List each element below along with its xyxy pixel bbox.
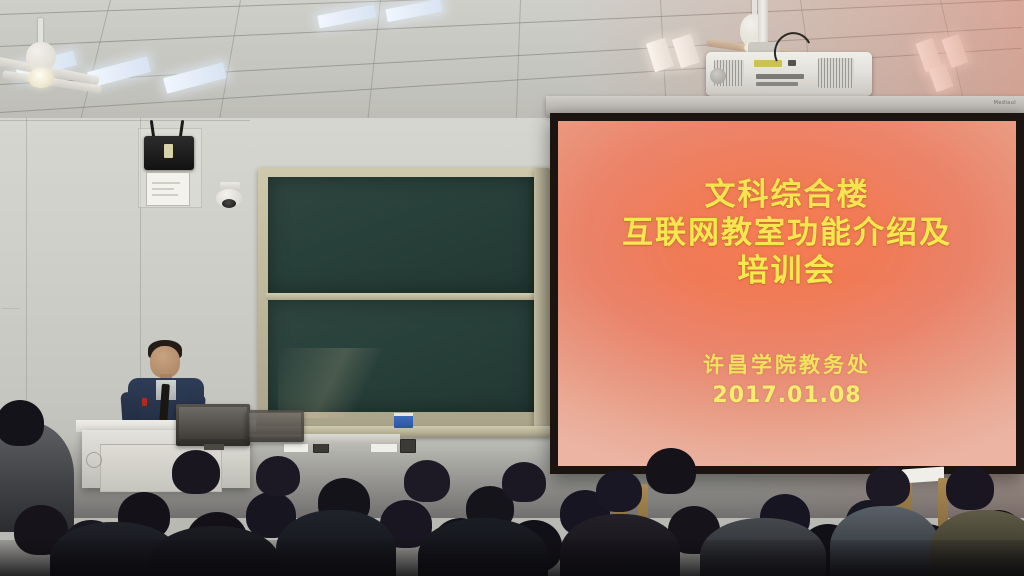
ceiling-light-panel xyxy=(317,5,376,29)
slide-title: 文科综合楼 互联网教室功能介绍及 培训会 xyxy=(558,177,1016,290)
audience-head xyxy=(502,462,546,502)
dome-camera xyxy=(212,182,246,216)
ceiling-light-panel xyxy=(646,38,674,73)
ceiling-fan-left xyxy=(0,16,160,106)
wifi-access-point xyxy=(138,128,200,206)
ceiling-light-panel xyxy=(928,64,953,93)
slide-date: 2017.01.08 xyxy=(558,383,1016,408)
audience-head xyxy=(0,400,44,446)
audience-head xyxy=(946,466,994,510)
slide-organization: 许昌学院教务处 xyxy=(558,349,1016,379)
audience-head xyxy=(866,466,910,506)
screen-brand-label: Mediaul xyxy=(994,100,1016,106)
audience-head xyxy=(646,448,696,494)
audience-head xyxy=(256,456,300,496)
ceiling-light-panel xyxy=(163,62,227,94)
audience-head xyxy=(596,470,642,512)
audience-head xyxy=(172,450,220,494)
ceiling-light-panel xyxy=(672,34,700,69)
ceiling-light-panel xyxy=(941,34,968,68)
ceiling-light-panel xyxy=(385,0,442,22)
ceiling-projector xyxy=(700,6,880,102)
lapel-badge xyxy=(142,398,147,406)
classroom-photo: Mediaul 文科综合楼 互联网教室功能介绍及 培训会 许昌学院教务处 201… xyxy=(0,0,1024,576)
blackboard xyxy=(258,168,550,430)
audience xyxy=(0,406,1024,576)
audience-head xyxy=(404,460,450,502)
